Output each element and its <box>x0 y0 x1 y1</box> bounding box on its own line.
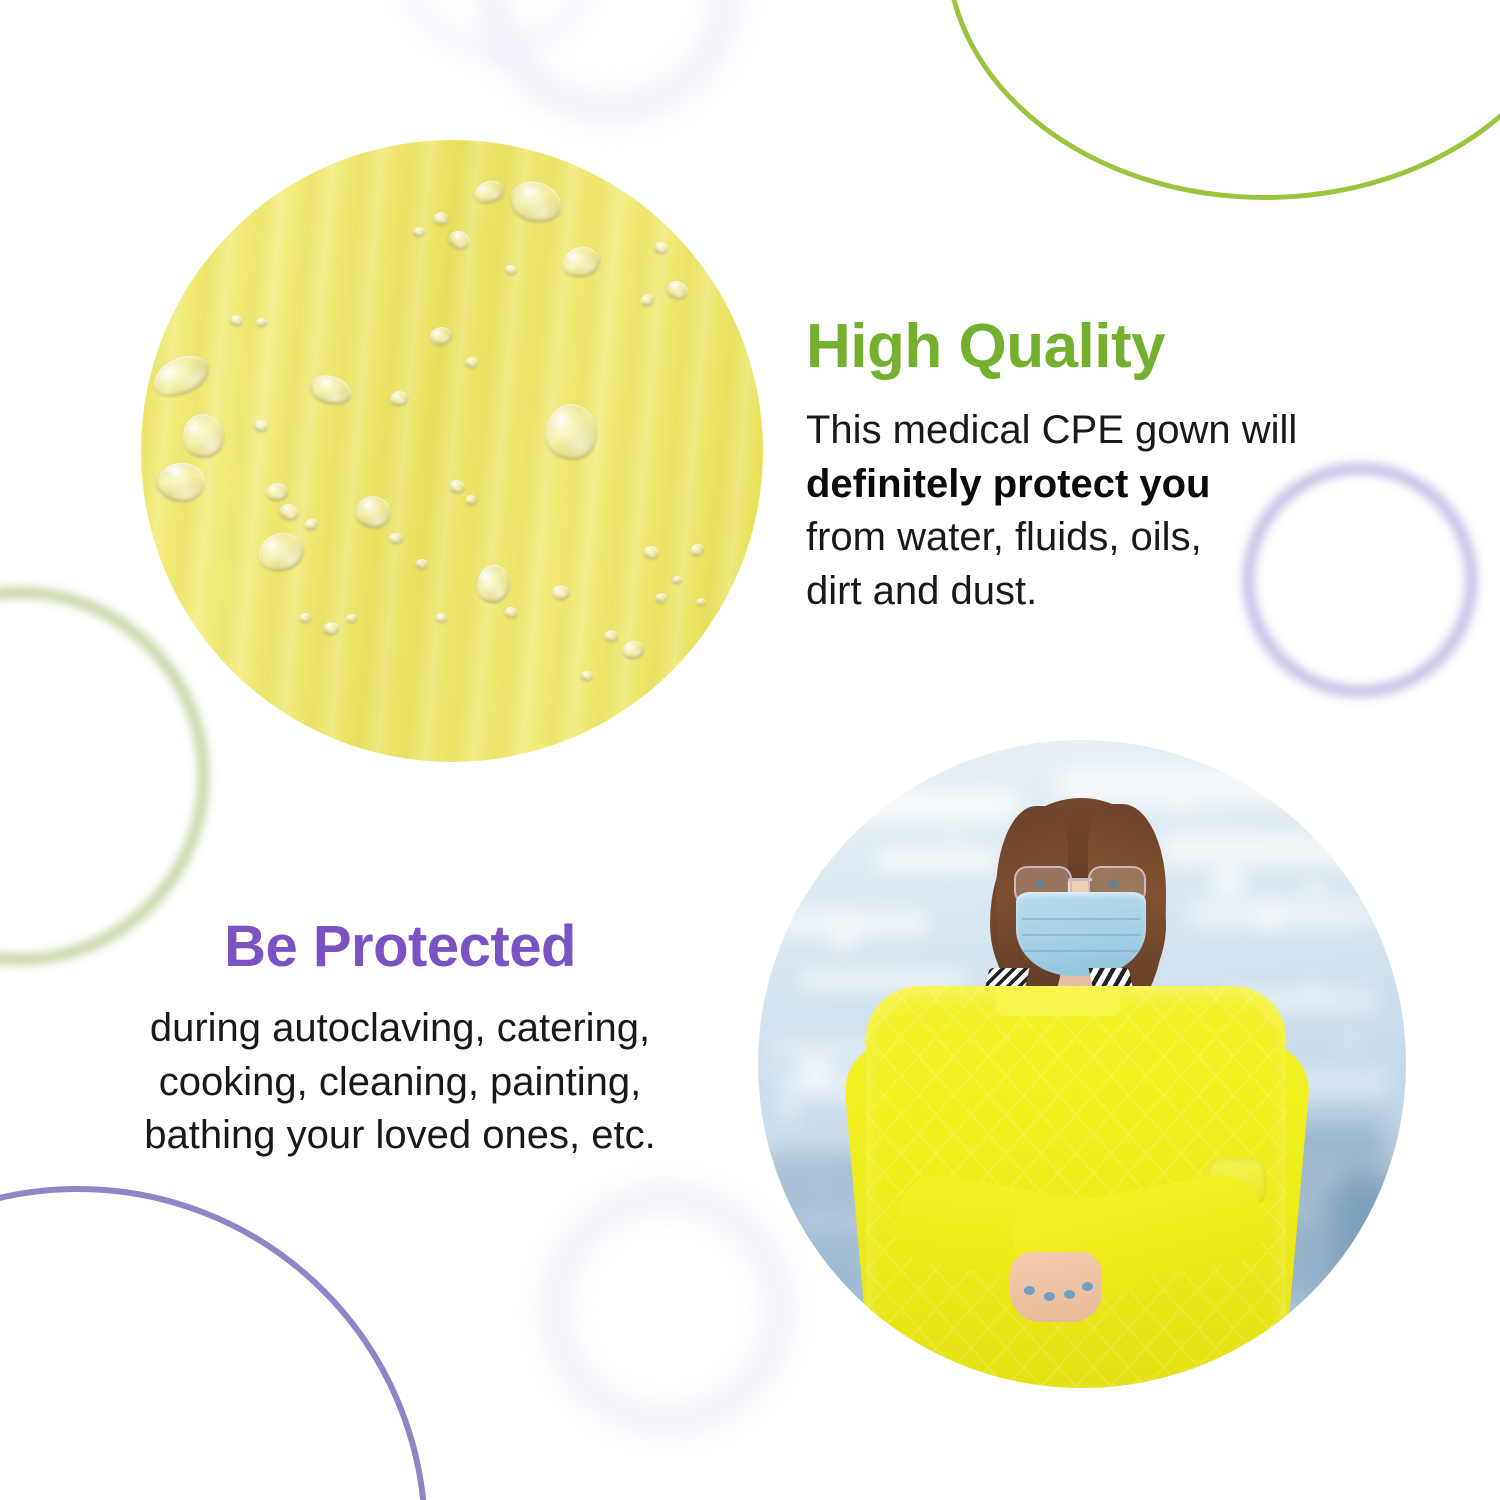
water-droplet <box>672 576 682 584</box>
water-droplet <box>604 629 619 642</box>
fingernail <box>1064 1290 1075 1299</box>
water-droplet <box>254 527 309 576</box>
water-droplet <box>389 532 404 544</box>
droplet-fabric-image <box>141 140 763 762</box>
healthcare-worker-photo <box>758 740 1406 1388</box>
water-droplet <box>322 621 339 636</box>
water-droplet <box>253 419 268 432</box>
faint-purple-ring-bottom-icon <box>542 1184 792 1434</box>
water-droplet <box>152 456 209 508</box>
high-quality-section: High Quality This medical CPE gown will … <box>806 316 1426 618</box>
product-infographic: High Quality This medical CPE gown will … <box>0 0 1500 1500</box>
faint-purple-ring-top-icon <box>480 0 740 122</box>
water-droplet <box>473 562 513 605</box>
water-droplet <box>464 356 479 369</box>
water-droplet <box>299 612 312 623</box>
water-droplet <box>464 494 477 506</box>
water-droplet <box>265 482 289 503</box>
water-droplet <box>542 401 600 462</box>
worker-figure <box>758 740 1406 1388</box>
water-droplet <box>414 559 428 570</box>
clasped-hands <box>1010 1252 1102 1322</box>
water-droplet <box>428 324 454 347</box>
water-droplet <box>412 226 425 238</box>
water-droplet <box>147 348 215 404</box>
be-protected-heading: Be Protected <box>62 918 738 976</box>
water-droplet <box>696 598 707 607</box>
green-ring-left-icon <box>0 588 208 964</box>
body-line: This medical CPE gown will <box>806 404 1426 458</box>
water-droplet <box>506 177 565 227</box>
surgical-mask-icon <box>1016 892 1146 976</box>
water-droplet <box>505 264 518 275</box>
fingernail <box>1044 1292 1055 1301</box>
body-line-emphasis: definitely protect you <box>806 458 1426 512</box>
water-droplet <box>178 410 228 462</box>
water-droplet <box>642 544 660 559</box>
body-line: dirt and dust. <box>806 565 1426 619</box>
body-line: cooking, cleaning, painting, <box>62 1056 738 1110</box>
water-droplet <box>303 518 318 530</box>
fingernail <box>1024 1286 1035 1295</box>
body-line: during autoclaving, catering, <box>62 1002 738 1056</box>
water-droplet <box>435 613 448 624</box>
water-droplet <box>551 583 571 600</box>
water-droplet <box>581 670 594 681</box>
green-ring-top-right-icon <box>945 0 1500 200</box>
water-droplet <box>471 177 506 207</box>
water-droplet <box>664 278 690 302</box>
water-droplet <box>689 543 704 557</box>
water-droplet <box>229 314 243 326</box>
water-droplet <box>389 390 408 407</box>
high-quality-body: This medical CPE gown will definitely pr… <box>806 404 1426 618</box>
water-droplet <box>653 240 669 255</box>
faint-purple-ring-topleft-icon <box>392 0 602 60</box>
water-droplet <box>621 639 646 661</box>
water-droplet <box>277 502 300 522</box>
be-protected-body: during autoclaving, catering, cooking, c… <box>62 1002 738 1163</box>
gown-yoke <box>996 988 1120 1016</box>
fingernail <box>1082 1282 1093 1291</box>
body-line: bathing your loved ones, etc. <box>62 1109 738 1163</box>
body-line: from water, fluids, oils, <box>806 511 1426 565</box>
water-droplet <box>353 494 393 531</box>
water-droplet <box>639 293 655 307</box>
water-droplet <box>432 211 449 225</box>
water-droplet <box>503 606 518 618</box>
water-droplet <box>346 614 357 623</box>
water-droplet <box>255 317 267 327</box>
high-quality-heading: High Quality <box>806 316 1426 378</box>
be-protected-section: Be Protected during autoclaving, caterin… <box>62 918 738 1163</box>
water-droplet <box>559 243 603 281</box>
water-droplet <box>655 592 668 603</box>
water-droplet <box>445 228 472 253</box>
purple-ring-bottom-left-icon <box>0 1186 428 1500</box>
water-droplet <box>307 371 355 408</box>
water-droplet <box>449 479 466 493</box>
